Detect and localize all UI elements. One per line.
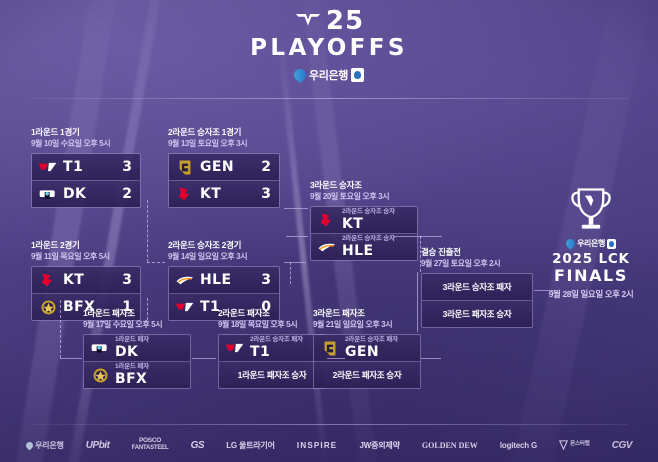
- bfx-logo-icon: [38, 298, 58, 316]
- team-name: HLE: [342, 244, 395, 258]
- match-title: 1라운드 1경기: [31, 127, 141, 138]
- match-title: 결승 진출전: [421, 247, 533, 258]
- match-date: 9월 27일 토요일 오후 2시: [421, 259, 533, 269]
- page-title: PLAYOFFS: [0, 37, 658, 60]
- bfx-logo-icon: [90, 366, 110, 384]
- connector: [60, 300, 61, 358]
- connector: [327, 358, 345, 359]
- table-row[interactable]: 2라운드 승자조 승자 HLE: [311, 233, 417, 260]
- connector: [147, 200, 148, 262]
- sponsor-woori-bank[interactable]: 우리은행: [26, 440, 64, 451]
- connector: [420, 236, 442, 237]
- table-row[interactable]: 1라운드 패자 DK: [84, 335, 190, 361]
- hle-logo-icon: [317, 238, 337, 256]
- sponsor-bar: 우리은행 UPbit POSCO FANTASTEEL GS LG 울트라기어 …: [0, 432, 658, 458]
- table-row[interactable]: T1 3: [32, 154, 140, 180]
- seed-label: 1라운드 패자: [115, 364, 149, 371]
- match-card: GEN 2 KT 3: [168, 153, 280, 208]
- team-name: DK: [63, 186, 86, 202]
- team-name: GEN: [200, 159, 234, 175]
- sponsor-posco-fantasteel[interactable]: POSCO FANTASTEEL: [132, 438, 169, 451]
- team-name: KT: [200, 186, 221, 202]
- sponsor-label: 몬스터랩: [570, 442, 589, 448]
- team-score: 3: [122, 272, 134, 288]
- match-title: 3라운드 승자조: [310, 180, 418, 191]
- finals-sponsor: 우리은행: [537, 238, 645, 249]
- woori-drop-icon: [292, 67, 309, 84]
- hle-logo-icon: [175, 271, 195, 289]
- connector: [284, 262, 306, 263]
- match-date: 9월 11일 목요일 오후 5시: [31, 252, 141, 262]
- team-score: 3: [261, 272, 273, 288]
- finals-date: 9월 28일 일요일 오후 2시: [537, 288, 645, 300]
- woori-drop-icon: [564, 237, 577, 250]
- match-date: 9월 17일 수요일 오후 5시: [83, 320, 191, 330]
- match-card: 2라운드 승자조 패자 GEN 2라운드 패자조 승자: [313, 334, 421, 389]
- playoffs-bracket-page: 25 PLAYOFFS 우리은행 1라운드 1경기 9월 10일 수요일 오후 …: [0, 0, 658, 462]
- team-name: DK: [115, 345, 149, 359]
- woori-drop-icon: [25, 440, 35, 450]
- gen-logo-icon: [320, 339, 340, 357]
- team-name: T1: [63, 159, 83, 175]
- match-date: 9월 18일 목요일 오후 5시: [218, 320, 326, 330]
- table-row[interactable]: 2라운드 패자조 승자: [314, 361, 420, 388]
- connector: [290, 262, 291, 284]
- slot-placeholder: 3라운드 패자조 승자: [443, 308, 512, 320]
- kt-logo-icon: [175, 185, 195, 203]
- seed-label: 2라운드 승자조 승자: [342, 236, 395, 243]
- finals-title-line2: FINALS: [537, 267, 645, 285]
- connector: [286, 236, 308, 237]
- slot-placeholder: 1라운드 패자조 승자: [238, 369, 307, 381]
- seed-label: 1라운드 패자: [115, 337, 149, 344]
- match-date: 9월 20일 토요일 오후 3시: [310, 192, 418, 202]
- match-card: 2라운드 승자조 승자 KT 2라운드 승자조 승자 HLE: [310, 206, 418, 261]
- sponsor-upbit[interactable]: UPbit: [86, 440, 110, 451]
- match-title: 1라운드 2경기: [31, 240, 141, 251]
- shield-icon: [559, 440, 568, 450]
- dk-logo-icon: [38, 185, 58, 203]
- match-r2-losers[interactable]: 2라운드 패자조 9월 18일 목요일 오후 5시 2라운드 승자조 패자 T1…: [218, 308, 326, 389]
- slot-placeholder: 2라운드 패자조 승자: [333, 369, 402, 381]
- sponsor-jw-pharma[interactable]: JW중외제약: [360, 440, 400, 451]
- lck-25-logo: 25: [0, 8, 658, 34]
- sponsor-inspire[interactable]: INSPIRE: [297, 441, 337, 450]
- header-sponsor-label: 우리은행: [309, 67, 348, 83]
- connector: [60, 358, 82, 359]
- match-title: 2라운드 승자조 2경기: [168, 240, 280, 251]
- match-date: 9월 21일 일요일 오후 3시: [313, 320, 421, 330]
- table-row[interactable]: 2라운드 승자조 승자 KT: [311, 207, 417, 233]
- match-card: 1라운드 패자 DK 1라운드 패자 BFX: [83, 334, 191, 389]
- sponsor-label-line2: FANTASTEEL: [132, 445, 169, 451]
- connector: [421, 358, 441, 359]
- sponsor-lg-ultragear[interactable]: LG 울트라기어: [226, 440, 275, 451]
- match-final-qualifier[interactable]: 결승 진출전 9월 27일 토요일 오후 2시 3라운드 승자조 패자 3라운드…: [421, 247, 533, 328]
- table-row[interactable]: 3라운드 승자조 패자: [422, 274, 532, 300]
- connector: [394, 236, 422, 237]
- match-title: 3라운드 패자조: [313, 308, 421, 319]
- table-row[interactable]: 1라운드 패자 BFX: [84, 361, 190, 388]
- team-name: HLE: [200, 272, 231, 288]
- sponsor-label-line1: POSCO: [132, 438, 169, 445]
- match-r1m1[interactable]: 1라운드 1경기 9월 10일 수요일 오후 5시 T1 3 DK 2: [31, 127, 141, 208]
- match-card: 3라운드 승자조 패자 3라운드 패자조 승자: [421, 273, 533, 328]
- sponsor-label: 우리은행: [35, 440, 64, 451]
- team-name: GEN: [345, 345, 398, 359]
- match-card: T1 3 DK 2: [31, 153, 141, 208]
- kt-logo-icon: [317, 211, 337, 229]
- table-row[interactable]: GEN 2: [169, 154, 279, 180]
- woori-badge-icon: [607, 239, 616, 249]
- table-row[interactable]: 3라운드 패자조 승자: [422, 300, 532, 327]
- match-card: 2라운드 승자조 패자 T1 1라운드 패자조 승자: [218, 334, 326, 389]
- sponsor-monster-lab[interactable]: 몬스터랩: [559, 440, 589, 450]
- sponsor-cgv[interactable]: CGV: [612, 440, 632, 451]
- connector: [192, 358, 216, 359]
- match-title: 2라운드 패자조: [218, 308, 326, 319]
- kt-logo-icon: [38, 271, 58, 289]
- match-date: 9월 10일 수요일 오후 5시: [31, 139, 141, 149]
- connector: [284, 208, 308, 209]
- match-title: 2라운드 승자조 1경기: [168, 127, 280, 138]
- sponsor-gs[interactable]: GS: [191, 440, 204, 451]
- connector: [420, 236, 421, 272]
- team-score: 2: [122, 186, 134, 202]
- t1-logo-icon: [225, 339, 245, 357]
- match-r3-winners[interactable]: 3라운드 승자조 9월 20일 토요일 오후 3시 2라운드 승자조 승자 KT…: [310, 180, 418, 261]
- header-divider: [30, 98, 628, 99]
- connector: [147, 262, 165, 263]
- table-row[interactable]: 2라운드 승자조 패자 T1: [219, 335, 325, 361]
- sponsor-golden-dew[interactable]: GOLDEN DEW: [422, 441, 478, 450]
- table-row[interactable]: KT 3: [169, 180, 279, 207]
- trophy-icon: [568, 186, 614, 236]
- team-name: BFX: [115, 372, 149, 386]
- seed-label: 2라운드 승자조 패자: [345, 337, 398, 344]
- team-score: 3: [122, 159, 134, 175]
- year-mark: 25: [326, 8, 364, 34]
- match-date: 9월 14일 일요일 오후 3시: [168, 252, 280, 262]
- match-r3-losers[interactable]: 3라운드 패자조 9월 21일 일요일 오후 3시 2라운드 승자조 패자 GE…: [313, 308, 421, 389]
- finals-title-line1: 2025 LCK: [537, 252, 645, 267]
- connector: [147, 298, 148, 320]
- sponsor-divider: [30, 424, 628, 425]
- table-row[interactable]: DK 2: [32, 180, 140, 207]
- match-r2w1[interactable]: 2라운드 승자조 1경기 9월 13일 토요일 오후 3시 GEN 2 KT 3: [168, 127, 280, 208]
- page-header: 25 PLAYOFFS 우리은행: [0, 8, 658, 83]
- header-sponsor: 우리은행: [0, 67, 658, 83]
- lck-wing-icon: [294, 12, 322, 31]
- table-row[interactable]: 1라운드 패자조 승자: [219, 361, 325, 388]
- team-name: KT: [342, 217, 395, 231]
- match-r1-losers[interactable]: 1라운드 패자조 9월 17일 수요일 오후 5시 1라운드 패자 DK 1라운…: [83, 308, 191, 389]
- dk-logo-icon: [90, 339, 110, 357]
- t1-logo-icon: [38, 158, 58, 176]
- sponsor-logitech-g[interactable]: logitech G: [500, 441, 537, 450]
- finals-block[interactable]: 우리은행 2025 LCK FINALS 9월 28일 일요일 오후 2시: [537, 186, 645, 300]
- match-title: 1라운드 패자조: [83, 308, 191, 319]
- finals-sponsor-label: 우리은행: [577, 238, 605, 249]
- table-row[interactable]: KT 3: [32, 267, 140, 293]
- team-name: KT: [63, 272, 84, 288]
- team-name: T1: [250, 345, 303, 359]
- connector: [417, 272, 418, 332]
- team-score: 3: [261, 186, 273, 202]
- seed-label: 2라운드 승자조 승자: [342, 209, 395, 216]
- woori-badge-icon: [351, 68, 364, 82]
- table-row[interactable]: HLE 3: [169, 267, 279, 293]
- slot-placeholder: 3라운드 승자조 패자: [443, 281, 512, 293]
- gen-logo-icon: [175, 158, 195, 176]
- match-date: 9월 13일 토요일 오후 3시: [168, 139, 280, 149]
- team-score: 2: [261, 159, 273, 175]
- seed-label: 2라운드 승자조 패자: [250, 337, 303, 344]
